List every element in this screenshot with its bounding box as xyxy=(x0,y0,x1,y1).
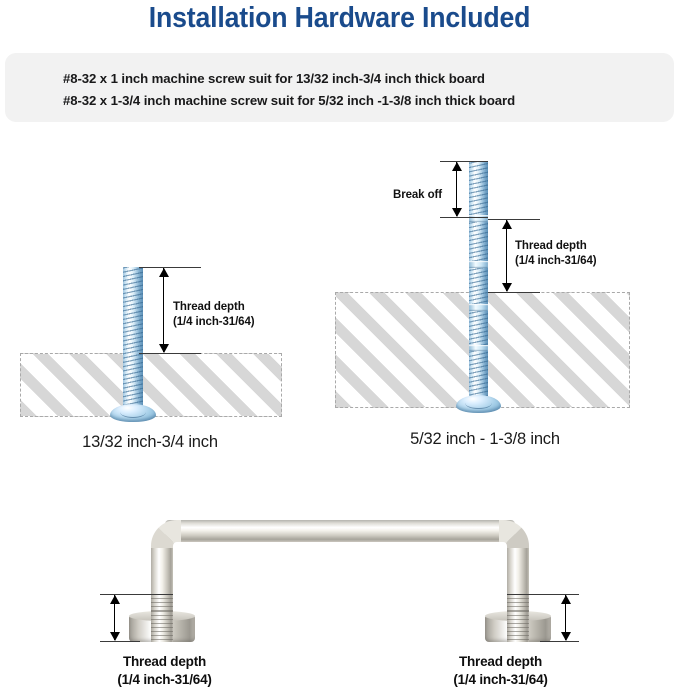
thread-depth-line2: (1/4 inch-31/64) xyxy=(173,315,255,330)
handle-left-post-front xyxy=(151,611,173,642)
spec-line-long-screw: #8-32 x 1-3/4 inch machine screw suit fo… xyxy=(63,93,515,108)
handle-left-leg xyxy=(151,548,173,594)
dim-tick-handle-left-bottom xyxy=(100,641,140,642)
dim-arrow-down-handle-right xyxy=(561,632,571,641)
screw-head-short xyxy=(110,404,156,422)
break-off-label: Break off xyxy=(393,188,442,203)
dim-tick-bottom-short xyxy=(139,353,201,354)
break-notch-2 xyxy=(469,261,488,268)
handle-right-thread-depth: Thread depth (1/4 inch-31/64) xyxy=(398,653,603,689)
screw-shading xyxy=(469,161,488,396)
caption-short-screw: 13/32 inch-3/4 inch xyxy=(0,433,300,452)
diagram-handle: Thread depth (1/4 inch-31/64) Thread dep… xyxy=(0,490,679,690)
thread-depth-line2: (1/4 inch-31/64) xyxy=(62,671,267,689)
handle-post-threads xyxy=(507,611,529,642)
dim-arrow-up-breakoff xyxy=(452,162,462,171)
dim-arrow-down-breakoff xyxy=(452,208,462,217)
dim-line-thread-long xyxy=(506,220,507,291)
dim-arrow-down-thread-long xyxy=(502,283,512,292)
handle-right-post-front xyxy=(507,611,529,642)
break-notch-4 xyxy=(469,345,488,351)
dim-arrow-up-thread-long xyxy=(502,220,512,229)
spec-line-short-screw: #8-32 x 1 inch machine screw suit for 13… xyxy=(63,71,485,86)
screw-head-slot xyxy=(120,405,147,417)
thread-depth-line1: Thread depth xyxy=(62,653,267,671)
thread-depth-label-short: Thread depth (1/4 inch-31/64) xyxy=(173,300,255,330)
spec-note-box: #8-32 x 1 inch machine screw suit for 13… xyxy=(5,53,674,122)
handle-right-leg xyxy=(507,548,529,594)
handle-top-bar xyxy=(165,520,515,542)
dim-tick-breakoff-top xyxy=(440,161,488,162)
diagram-long-screw: Break off Thread depth (1/4 inch-31/64) … xyxy=(330,140,679,460)
dim-tick-top-short xyxy=(139,267,201,268)
dim-tick-thread-bottom-long xyxy=(488,292,540,293)
dim-line-short xyxy=(163,268,164,352)
dim-arrow-down-handle-left xyxy=(110,632,120,641)
screw-short xyxy=(123,267,143,406)
thread-depth-line1: Thread depth xyxy=(398,653,603,671)
screw-head-slot xyxy=(465,396,491,408)
thread-depth-label-long: Thread depth (1/4 inch-31/64) xyxy=(515,239,597,269)
thread-depth-line2: (1/4 inch-31/64) xyxy=(398,671,603,689)
dim-tick-thread-top-long xyxy=(488,219,540,220)
diagram-short-screw: Thread depth (1/4 inch-31/64) 13/32 inch… xyxy=(0,260,330,460)
screw-shading xyxy=(123,267,143,406)
dim-arrow-up-short xyxy=(159,268,169,277)
break-notch-3 xyxy=(469,304,488,311)
dim-tick-breakoff-bottom xyxy=(440,217,488,218)
dim-arrow-down-short xyxy=(159,344,169,353)
dim-tick-handle-right-bottom xyxy=(540,641,579,642)
screw-head-long xyxy=(456,395,501,413)
dim-arrow-up-handle-left xyxy=(110,595,120,604)
dim-arrow-up-handle-right xyxy=(561,595,571,604)
thread-depth-line1: Thread depth xyxy=(515,239,597,254)
thread-depth-line1: Thread depth xyxy=(173,300,255,315)
page-title: Installation Hardware Included xyxy=(27,2,652,35)
handle-left-thread-depth: Thread depth (1/4 inch-31/64) xyxy=(62,653,267,689)
caption-long-screw: 5/32 inch - 1-3/8 inch xyxy=(340,430,630,449)
handle-post-threads xyxy=(151,611,173,642)
screw-long xyxy=(469,161,488,396)
thread-depth-line2: (1/4 inch-31/64) xyxy=(515,254,597,269)
